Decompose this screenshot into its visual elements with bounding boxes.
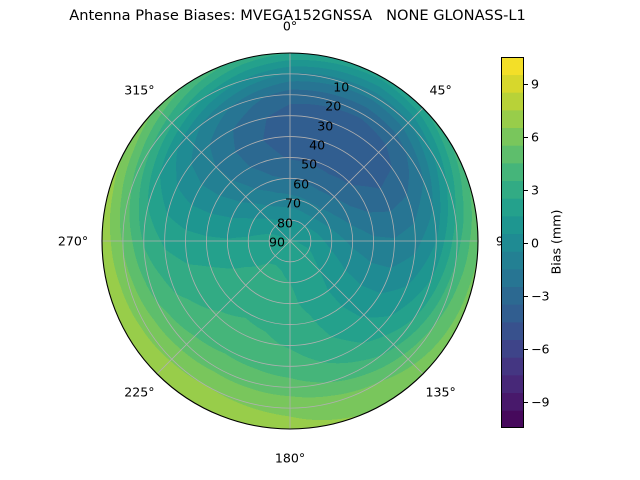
colorbar-tickmark-1	[524, 137, 528, 138]
colorbar-tickmark-6	[524, 402, 528, 403]
angle-tick-label-180: 180°	[275, 451, 305, 466]
colorbar-tickmark-5	[524, 349, 528, 350]
polar-plot-axes[interactable]	[101, 52, 479, 430]
radial-tick-label-30: 30	[317, 118, 333, 133]
radial-tick-label-70: 70	[285, 196, 301, 211]
radial-tick-label-50: 50	[301, 157, 317, 172]
colorbar-tickmark-0	[524, 84, 528, 85]
angle-tick-label-135: 135°	[425, 384, 455, 399]
radial-tick-label-10: 10	[333, 79, 349, 94]
colorbar-gradient	[501, 57, 524, 428]
colorbar-tickmark-4	[524, 296, 528, 297]
colorbar-tick-label-3: 0	[531, 235, 539, 250]
colorbar-axis-label: Bias (mm)	[549, 210, 564, 275]
angle-tick-label-0: 0°	[283, 19, 297, 34]
colorbar-tick-label-2: 3	[531, 182, 539, 197]
page-title: Antenna Phase Biases: MVEGA152GNSSA NONE…	[0, 7, 595, 24]
radial-tick-label-20: 20	[325, 99, 341, 114]
colorbar-tick-label-4: −3	[531, 288, 550, 303]
radial-tick-label-60: 60	[293, 176, 309, 191]
angle-tick-label-225: 225°	[124, 384, 154, 399]
colorbar-tick-label-5: −6	[531, 341, 550, 356]
colorbar-tick-label-0: 9	[531, 76, 539, 91]
colorbar-tick-label-6: −9	[531, 394, 550, 409]
figure-canvas: Antenna Phase Biases: MVEGA152GNSSA NONE…	[0, 0, 640, 480]
angle-tick-label-270: 270°	[58, 234, 88, 249]
colorbar-tickmark-3	[524, 243, 528, 244]
polar-heatmap	[101, 52, 479, 430]
angle-tick-label-315: 315°	[124, 83, 154, 98]
colorbar-tickmark-2	[524, 190, 528, 191]
angle-tick-label-45: 45°	[429, 83, 451, 98]
colorbar[interactable]	[501, 57, 524, 428]
radial-tick-label-40: 40	[309, 137, 325, 152]
radial-tick-label-90: 90	[269, 235, 285, 250]
radial-tick-label-80: 80	[277, 215, 293, 230]
colorbar-tick-label-1: 6	[531, 129, 539, 144]
